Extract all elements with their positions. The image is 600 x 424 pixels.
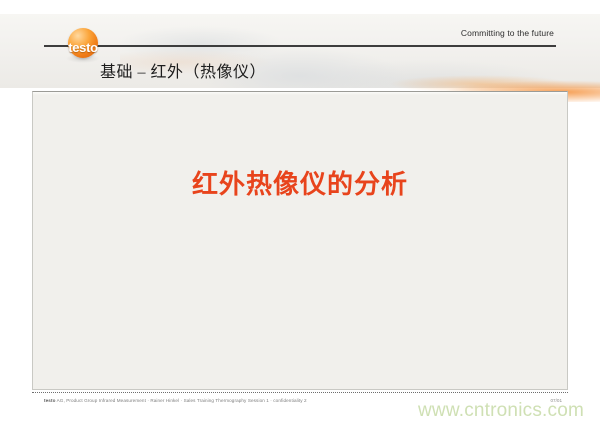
brand-tagline: Committing to the future bbox=[461, 28, 554, 38]
testo-logo: testo bbox=[62, 28, 104, 64]
slide-content-panel: 红外热像仪的分析 bbox=[32, 91, 568, 390]
panel-top-highlight bbox=[33, 92, 567, 95]
slide-title: 基础 – 红外（热像仪） bbox=[100, 58, 266, 82]
header-divider-rule bbox=[44, 45, 556, 47]
slide-main-heading: 红外热像仪的分析 bbox=[33, 164, 567, 201]
presentation-slide: testo Committing to the future 基础 – 红外（热… bbox=[0, 0, 600, 424]
footer-credit-text: AG, Product Group Infrared Measurement ·… bbox=[55, 398, 306, 403]
footer-company: testo bbox=[44, 398, 55, 403]
logo-wordmark: testo bbox=[62, 40, 104, 55]
footer-dotted-rule bbox=[32, 392, 568, 394]
site-watermark: www.cntronics.com bbox=[418, 400, 584, 422]
footer-credit: testo AG, Product Group Infrared Measure… bbox=[44, 398, 307, 403]
